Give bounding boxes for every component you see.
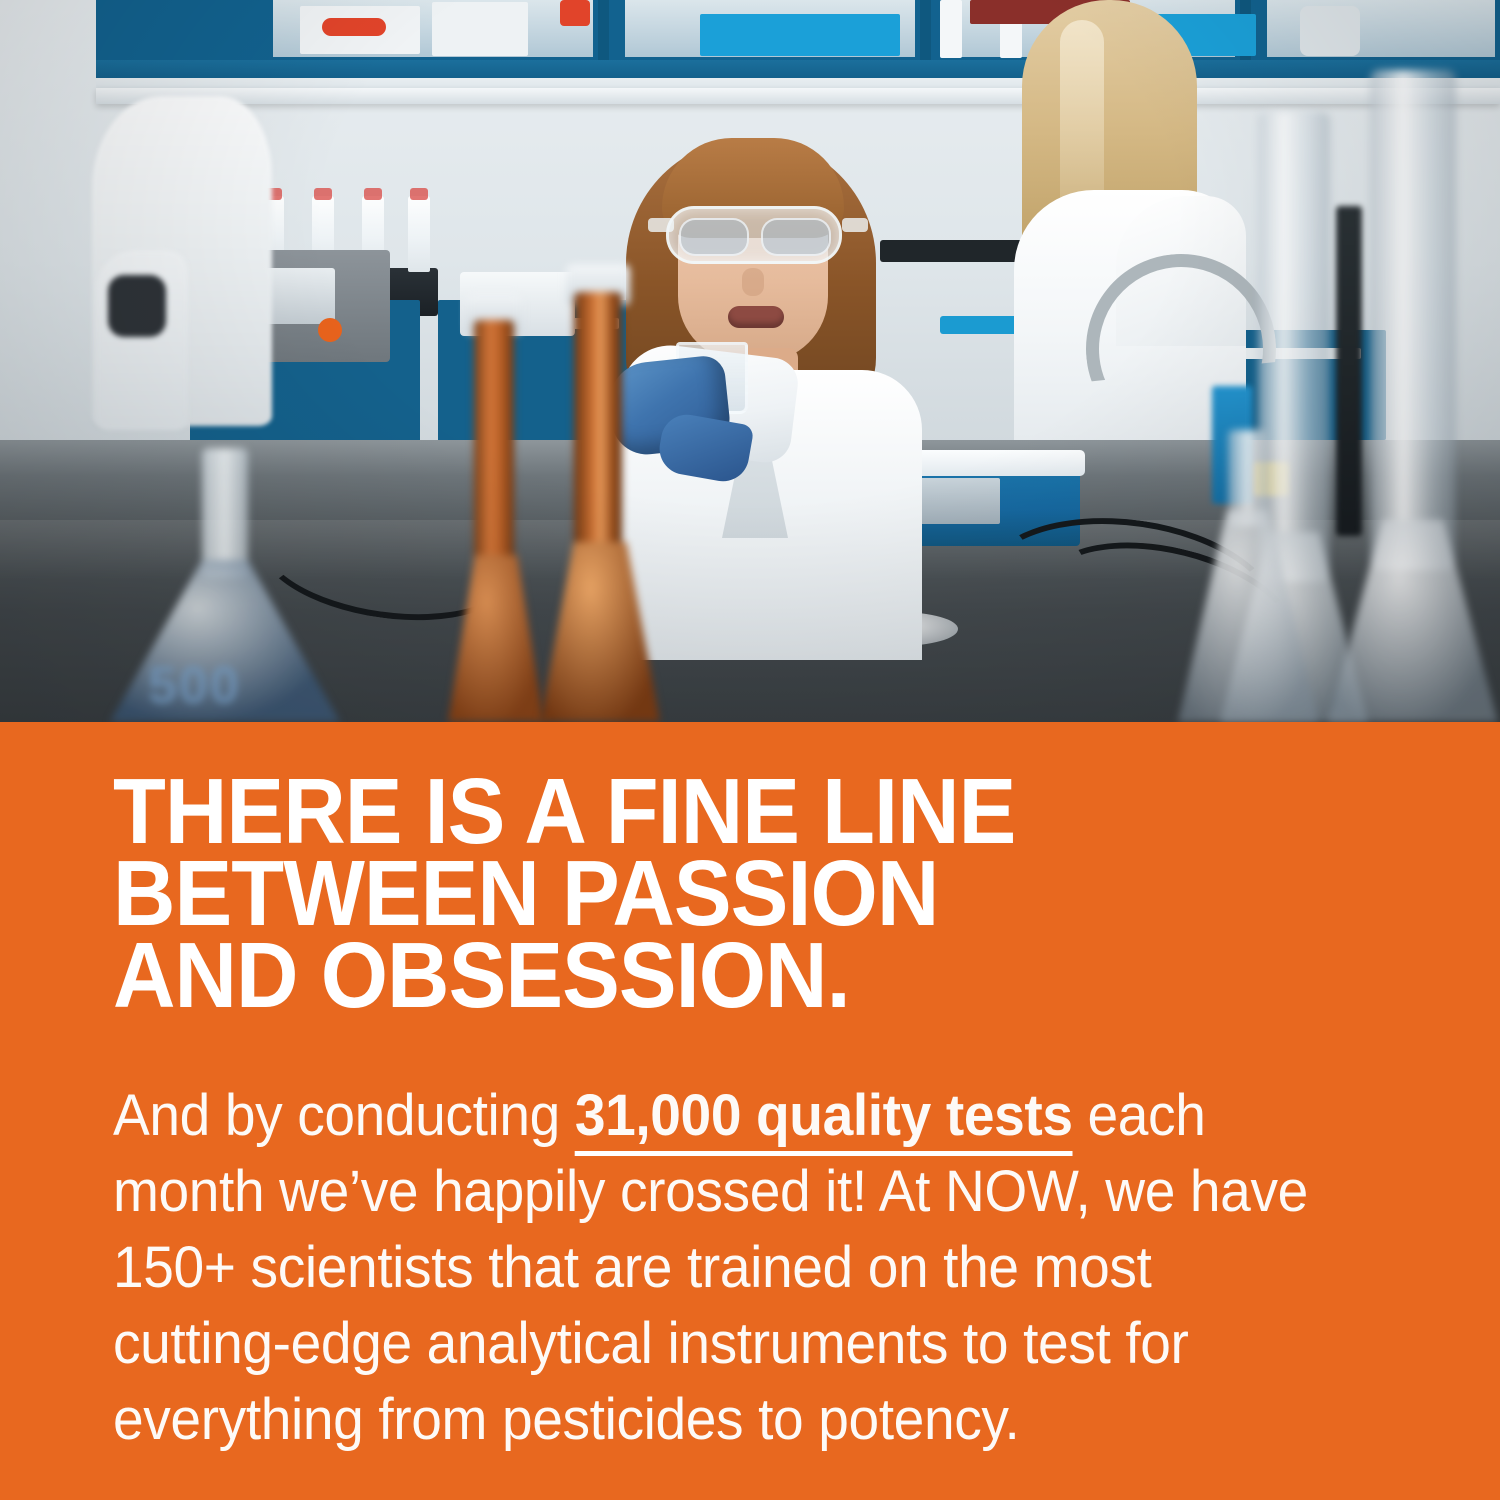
amber-volumetric-flask-2 bbox=[540, 292, 660, 722]
goggle-strap-left bbox=[648, 218, 674, 232]
cabinet-glass-4 bbox=[1262, 0, 1500, 62]
headline-line-3: AND OBSESSION. bbox=[113, 934, 1322, 1016]
body-copy: And by conducting 31,000 quality tests e… bbox=[113, 1078, 1339, 1458]
center-scientist-nose bbox=[742, 268, 764, 296]
clear-glassware-right-3 bbox=[1178, 430, 1318, 722]
headline-line-1: THERE IS A FINE LINE bbox=[113, 770, 1322, 852]
shelf-marker-red bbox=[560, 0, 590, 26]
amber-volumetric-flask-1 bbox=[448, 320, 544, 722]
center-scientist-mouth bbox=[728, 306, 784, 328]
volumetric-flask-500: 500 bbox=[110, 448, 340, 722]
shelf-box-2 bbox=[432, 2, 528, 56]
goggle-strap-right bbox=[842, 218, 868, 232]
lab-photo: 500 bbox=[0, 0, 1500, 722]
instrument-indicator-orange bbox=[318, 318, 342, 342]
shelf-label-red bbox=[322, 18, 386, 36]
body-part-1: And by conducting bbox=[113, 1083, 575, 1148]
marketing-poster: 500 THERE IS A FINE LINE BETWEEN PASSION… bbox=[0, 0, 1500, 1500]
clear-glassware-right-2 bbox=[1370, 70, 1456, 722]
dark-rod bbox=[1336, 206, 1362, 536]
safety-goggles bbox=[666, 206, 842, 264]
goggle-lens-left bbox=[679, 218, 749, 256]
shelf-band bbox=[96, 60, 1500, 90]
page-title: THERE IS A FINE LINE BETWEEN PASSION AND… bbox=[113, 770, 1322, 1016]
shelf-tube-1 bbox=[940, 0, 962, 58]
vial bbox=[408, 196, 430, 272]
left-scientist-hand bbox=[108, 275, 166, 337]
quality-tests-highlight: 31,000 quality tests bbox=[575, 1083, 1073, 1156]
headline-line-2: BETWEEN PASSION bbox=[113, 852, 1322, 934]
goggle-lens-right bbox=[761, 218, 831, 256]
flask-volume-label: 500 bbox=[148, 656, 276, 710]
shelf-box-blue bbox=[700, 14, 900, 56]
shelf-lip bbox=[96, 88, 1500, 104]
shelf-jar bbox=[1300, 6, 1360, 56]
